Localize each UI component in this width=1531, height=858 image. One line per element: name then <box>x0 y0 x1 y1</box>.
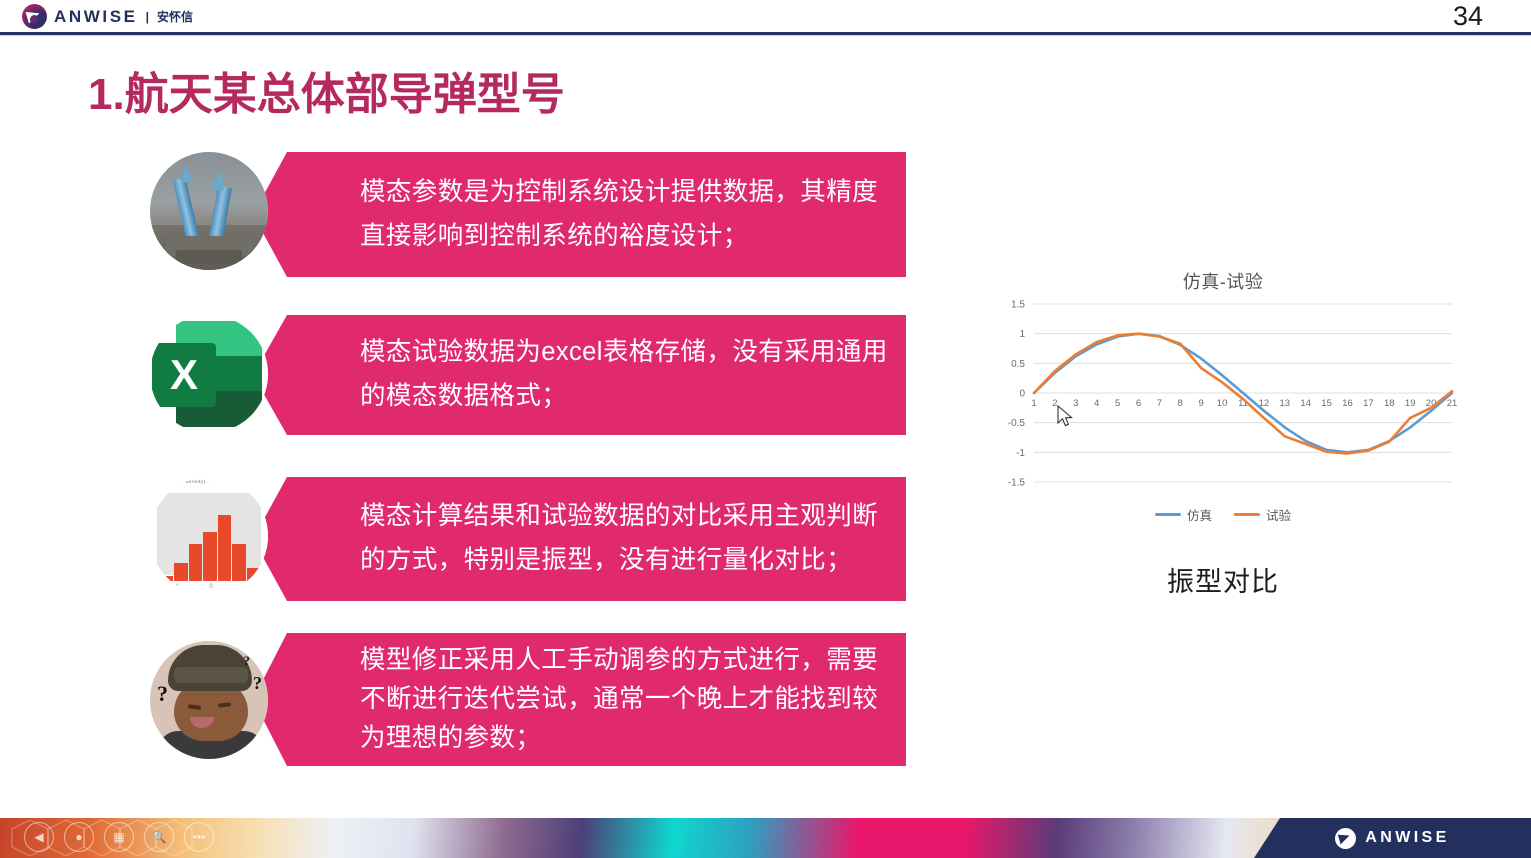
svg-text:21: 21 <box>1447 398 1458 409</box>
excel-icon: X <box>150 315 268 433</box>
slide-header: ANWISE | 安怀信 34 <box>0 0 1531 33</box>
chart-plot-area: 1.510.50-0.5-1-1.51234567891011121314151… <box>988 296 1458 496</box>
brand-logo-cn: 安怀信 <box>157 8 193 25</box>
svg-text:18: 18 <box>1384 398 1395 409</box>
anwise-logo-icon <box>22 4 47 29</box>
svg-text:17: 17 <box>1363 398 1374 409</box>
footer-brand-text: ANWISE <box>1365 829 1449 847</box>
legend-label: 仿真 <box>1187 505 1212 524</box>
anwise-logo-icon <box>1335 828 1356 849</box>
svg-text:1: 1 <box>1019 329 1025 340</box>
page-number: 34 <box>1453 1 1483 32</box>
bullet-item: 模态试验数据为excel表格存储，没有采用通用的模态数据格式； X <box>150 315 906 435</box>
comparison-chart: 仿真-试验 1.510.50-0.5-1-1.51234567891011121… <box>988 262 1458 532</box>
bullet-text: 模型修正采用人工手动调参的方式进行，需要不断进行迭代尝试，通常一个晚上才能找到较… <box>360 641 906 758</box>
svg-text:1: 1 <box>1031 398 1036 409</box>
svg-text:1.5: 1.5 <box>1011 300 1025 311</box>
svg-text:8: 8 <box>1178 398 1183 409</box>
svg-text:14: 14 <box>1300 398 1311 409</box>
confused-face-icon: ? ? ? <box>150 641 268 759</box>
page-title: 1.航天某总体部导弹型号 <box>88 58 565 122</box>
bullet-banner: 模态参数是为控制系统设计提供数据，其精度直接影响到控制系统的裕度设计； <box>254 152 906 277</box>
search-icon[interactable]: 🔍 <box>144 822 174 852</box>
svg-text:15: 15 <box>1321 398 1332 409</box>
bullet-text: 模态计算结果和试验数据的对比采用主观判断的方式，特别是振型，没有进行量化对比； <box>360 495 906 583</box>
slide-canvas: ANWISE | 安怀信 34 1.航天某总体部导弹型号 模态参数是为控制系统设… <box>0 0 1531 858</box>
legend-swatch <box>1155 513 1181 517</box>
bullet-text: 模态试验数据为excel表格存储，没有采用通用的模态数据格式； <box>360 331 906 419</box>
bullet-banner: 模态试验数据为excel表格存储，没有采用通用的模态数据格式； <box>254 315 906 435</box>
slide-footer: ◀ ● ▦ 🔍 ••• ANWISE <box>0 818 1531 858</box>
svg-text:6: 6 <box>1136 398 1141 409</box>
bullet-item: 模态计算结果和试验数据的对比采用主观判断的方式，特别是振型，没有进行量化对比； … <box>150 477 906 601</box>
missile-photo-icon <box>150 152 268 270</box>
legend-item-simulation: 仿真 <box>1155 505 1212 524</box>
svg-text:7: 7 <box>1157 398 1162 409</box>
bullet-text: 模态参数是为控制系统设计提供数据，其精度直接影响到控制系统的裕度设计； <box>360 171 906 259</box>
mouse-cursor-icon <box>1057 405 1075 429</box>
svg-text:13: 13 <box>1280 398 1291 409</box>
svg-text:16: 16 <box>1342 398 1353 409</box>
svg-text:4: 4 <box>1094 398 1099 409</box>
bullet-item: 模态参数是为控制系统设计提供数据，其精度直接影响到控制系统的裕度设计； <box>150 152 906 277</box>
brand-logo-text: ANWISE <box>54 8 138 25</box>
brand-logo: ANWISE | 安怀信 <box>22 4 193 29</box>
footer-brand: ANWISE <box>1254 818 1531 858</box>
header-divider-light <box>0 35 1531 36</box>
svg-text:0: 0 <box>1019 389 1025 400</box>
footer-toolbar[interactable]: ◀ ● ▦ 🔍 ••• <box>24 822 214 852</box>
svg-text:-1: -1 <box>1016 448 1025 459</box>
more-icon[interactable]: ••• <box>184 822 214 852</box>
legend-item-experiment: 试验 <box>1234 505 1291 524</box>
histogram-chart-icon: ..plot(t, density).. -101 <box>150 477 268 595</box>
bullet-banner: 模型修正采用人工手动调参的方式进行，需要不断进行迭代尝试，通常一个晚上才能找到较… <box>254 633 906 766</box>
svg-text:-1.5: -1.5 <box>1008 478 1026 489</box>
bullet-item: 模型修正采用人工手动调参的方式进行，需要不断进行迭代尝试，通常一个晚上才能找到较… <box>150 633 906 766</box>
back-icon[interactable]: ◀ <box>24 822 54 852</box>
svg-text:5: 5 <box>1115 398 1120 409</box>
svg-text:19: 19 <box>1405 398 1416 409</box>
brand-logo-divider: | <box>146 10 149 24</box>
grid-icon[interactable]: ▦ <box>104 822 134 852</box>
legend-swatch <box>1234 513 1260 517</box>
record-icon[interactable]: ● <box>64 822 94 852</box>
svg-text:10: 10 <box>1217 398 1228 409</box>
chart-legend: 仿真 试验 <box>988 505 1458 524</box>
chart-title: 仿真-试验 <box>988 268 1458 294</box>
svg-text:-0.5: -0.5 <box>1008 418 1026 429</box>
bullet-banner: 模态计算结果和试验数据的对比采用主观判断的方式，特别是振型，没有进行量化对比； <box>254 477 906 601</box>
svg-text:9: 9 <box>1199 398 1204 409</box>
chart-caption: 振型对比 <box>988 560 1458 599</box>
legend-label: 试验 <box>1266 505 1291 524</box>
svg-text:0.5: 0.5 <box>1011 359 1025 370</box>
